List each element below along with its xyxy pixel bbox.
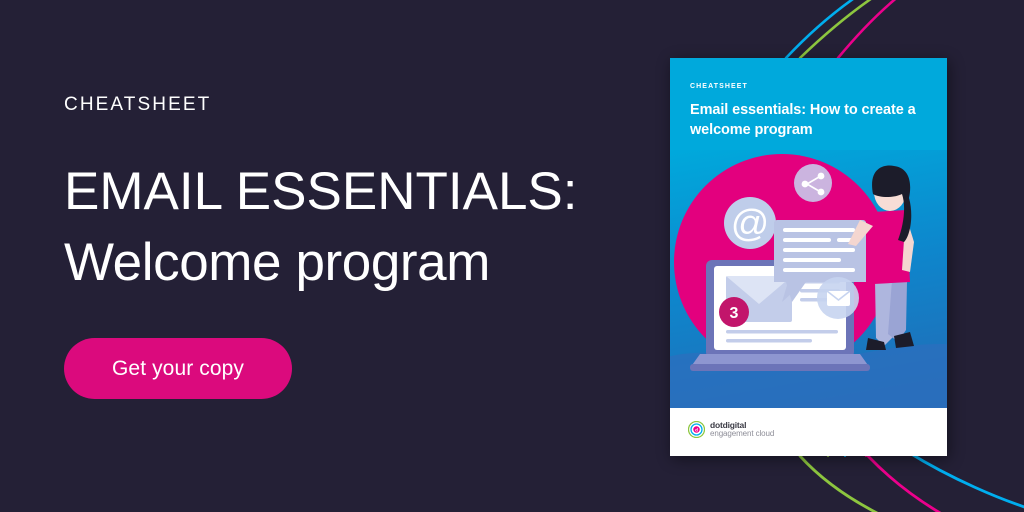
page-title: EMAIL ESSENTIALS: Welcome program bbox=[64, 156, 644, 298]
promo-copy: CHEATSHEET EMAIL ESSENTIALS: Welcome pro… bbox=[64, 95, 644, 298]
envelope-icon bbox=[817, 277, 859, 319]
dotdigital-logo: d dotdigital engagement cloud bbox=[688, 421, 774, 438]
cheatsheet-cover-card[interactable]: CHEATSHEET Email essentials: How to crea… bbox=[670, 58, 947, 456]
share-icon bbox=[794, 164, 832, 202]
cover-eyebrow: CHEATSHEET bbox=[690, 83, 748, 90]
curve-green-top bbox=[800, 0, 965, 58]
curve-cyan-top bbox=[786, 0, 960, 58]
cover-illustration: @ bbox=[670, 150, 947, 408]
svg-text:@: @ bbox=[731, 203, 770, 245]
logo-tagline: engagement cloud bbox=[710, 430, 774, 438]
curve-green-bottom bbox=[800, 456, 1000, 512]
promo-banner: CHEATSHEET EMAIL ESSENTIALS: Welcome pro… bbox=[0, 0, 1024, 512]
cover-title: Email essentials: How to create a welcom… bbox=[690, 100, 930, 140]
notification-badge: 3 bbox=[719, 297, 749, 327]
curve-magenta-top bbox=[838, 0, 985, 58]
curve-cyan-bottom bbox=[908, 452, 1024, 512]
dotdigital-mark-icon: d bbox=[688, 421, 705, 438]
headline-line-2: Welcome program bbox=[64, 227, 644, 298]
svg-text:d: d bbox=[695, 428, 698, 433]
promo-eyebrow: CHEATSHEET bbox=[64, 95, 644, 114]
at-symbol-icon: @ bbox=[724, 197, 776, 249]
curve-magenta-bottom bbox=[868, 456, 1024, 512]
get-your-copy-button[interactable]: Get your copy bbox=[64, 338, 292, 399]
headline-line-1: EMAIL ESSENTIALS: bbox=[64, 156, 644, 227]
cover-footer: d dotdigital engagement cloud bbox=[670, 408, 947, 456]
badge-count: 3 bbox=[730, 305, 739, 322]
